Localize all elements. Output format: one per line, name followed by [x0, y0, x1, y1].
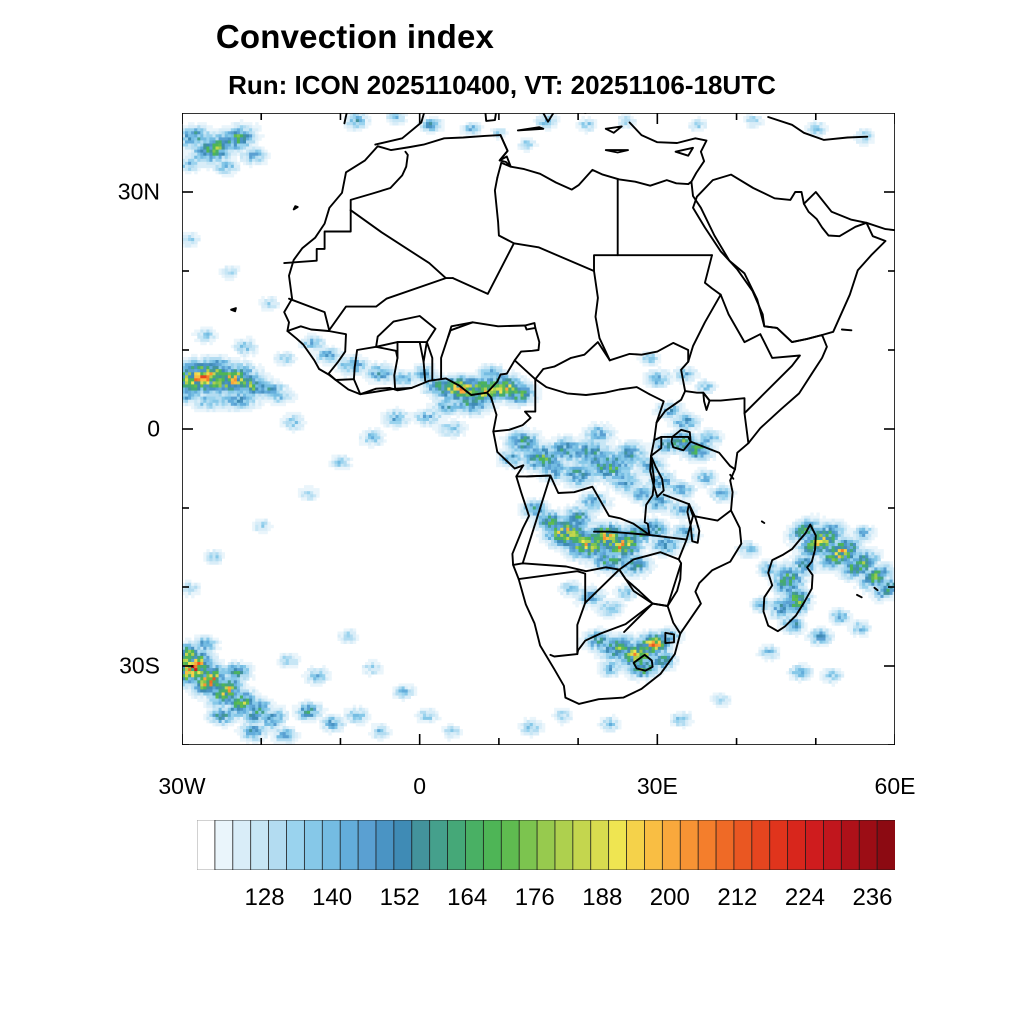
- field-cell: [252, 339, 255, 342]
- field-cell: [661, 513, 671, 516]
- field-cell: [621, 473, 624, 476]
- field-cell: [646, 540, 649, 543]
- field-cell: [200, 150, 203, 153]
- field-cell: [545, 537, 548, 540]
- field-cell: [206, 333, 209, 336]
- field-cell: [289, 351, 292, 354]
- field-cell: [661, 543, 664, 546]
- field-cell: [380, 366, 390, 369]
- field-cell: [804, 522, 814, 525]
- field-cell: [280, 397, 283, 400]
- field-cell: [350, 366, 353, 369]
- field-cell: [554, 519, 557, 522]
- field-cell: [804, 583, 807, 586]
- field-cell: [518, 455, 521, 458]
- field-cell: [612, 458, 615, 461]
- field-cell: [579, 122, 582, 125]
- field-cell: [240, 122, 253, 125]
- field-cell: [676, 482, 679, 485]
- field-cell: [640, 455, 643, 458]
- field-cell: [707, 381, 710, 384]
- field-cell: [667, 479, 670, 482]
- field-cell: [249, 144, 252, 147]
- field-cell: [868, 567, 871, 570]
- field-cell: [667, 372, 670, 375]
- field-cell: [649, 375, 652, 378]
- field-cell: [206, 162, 216, 165]
- field-cell: [209, 366, 212, 369]
- field-cell: [582, 528, 585, 531]
- field-cell: [182, 589, 188, 592]
- field-cell: [252, 131, 255, 134]
- field-cell: [844, 543, 847, 546]
- field-cell: [280, 394, 283, 397]
- field-cell: [219, 552, 222, 555]
- field-cell: [365, 366, 371, 369]
- field-cell: [667, 540, 670, 543]
- field-cell: [380, 442, 383, 445]
- field-cell: [658, 540, 661, 543]
- field-cell: [874, 571, 880, 574]
- field-cell: [240, 159, 246, 162]
- field-cell: [697, 418, 700, 421]
- field-cell: [362, 436, 365, 439]
- field-cell: [481, 388, 484, 391]
- field-cell: [213, 378, 216, 381]
- field-cell: [188, 589, 194, 592]
- field-cell: [685, 458, 688, 461]
- field-cell: [606, 552, 622, 555]
- field-cell: [524, 430, 530, 433]
- field-cell: [551, 516, 554, 519]
- field-cell: [222, 131, 225, 134]
- field-cell: [435, 119, 438, 122]
- field-cell: [655, 442, 661, 445]
- field-cell: [405, 421, 408, 424]
- field-cell: [365, 125, 368, 128]
- field-cell: [481, 363, 484, 366]
- field-cell: [438, 424, 441, 427]
- field-cell: [838, 577, 841, 580]
- field-cell: [640, 503, 643, 506]
- field-cell: [603, 534, 606, 537]
- field-cell: [450, 388, 453, 391]
- field-cell: [667, 528, 670, 531]
- field-cell: [527, 397, 530, 400]
- field-cell: [258, 528, 268, 531]
- field-cell: [627, 455, 630, 458]
- field-cell: [569, 537, 572, 540]
- field-cell: [758, 546, 761, 549]
- field-cell: [579, 534, 582, 537]
- field-cell: [420, 391, 423, 394]
- field-cell: [569, 485, 575, 488]
- field-cell: [585, 122, 588, 125]
- field-cell: [572, 558, 575, 561]
- field-cell: [579, 595, 582, 598]
- field-cell: [792, 571, 798, 574]
- field-cell: [832, 531, 835, 534]
- field-cell: [633, 122, 636, 125]
- field-cell: [518, 372, 521, 375]
- field-cell: [658, 482, 661, 485]
- field-cell: [209, 342, 212, 345]
- field-cell: [206, 406, 209, 409]
- field-cell: [649, 360, 652, 363]
- field-cell: [209, 339, 215, 342]
- field-cell: [835, 574, 841, 577]
- field-cell: [286, 412, 302, 415]
- field-cell: [579, 552, 582, 555]
- field-cell: [328, 348, 334, 351]
- field-cell: [350, 369, 353, 372]
- field-cell: [582, 449, 585, 452]
- field-cell: [478, 131, 481, 134]
- field-cell: [197, 400, 200, 403]
- field-cell: [450, 391, 453, 394]
- field-cell: [554, 516, 557, 519]
- field-cell: [466, 403, 469, 406]
- field-cell: [234, 403, 237, 406]
- field-cell: [874, 574, 877, 577]
- field-cell: [530, 449, 533, 452]
- field-cell: [597, 467, 600, 470]
- field-cell: [801, 522, 804, 525]
- field-cell: [823, 564, 826, 567]
- field-cell: [722, 436, 725, 439]
- field-cell: [566, 470, 572, 473]
- field-cell: [597, 442, 600, 445]
- field-cell: [267, 394, 270, 397]
- field-cell: [191, 150, 194, 153]
- field-cell: [411, 381, 414, 384]
- field-cell: [310, 342, 313, 345]
- field-cell: [664, 540, 667, 543]
- field-cell: [615, 449, 621, 452]
- field-cell: [399, 412, 402, 415]
- field-cell: [600, 558, 603, 561]
- field-cell: [234, 150, 237, 153]
- field-cell: [524, 391, 527, 394]
- field-cell: [572, 537, 575, 540]
- field-cell: [618, 119, 621, 122]
- field-cell: [237, 134, 240, 137]
- field-cell: [408, 421, 411, 424]
- field-cell: [621, 528, 624, 531]
- field-cell: [597, 452, 600, 455]
- field-cell: [274, 378, 280, 381]
- field-cell: [624, 491, 634, 494]
- field-cell: [792, 592, 795, 595]
- field-cell: [853, 564, 856, 567]
- field-cell: [621, 540, 624, 543]
- field-cell: [222, 171, 228, 174]
- field-cell: [463, 415, 466, 418]
- field-cell: [710, 494, 713, 497]
- field-cell: [359, 125, 365, 128]
- field-cell: [331, 464, 334, 467]
- field-cell: [575, 537, 578, 540]
- field-cell: [481, 381, 484, 384]
- field-cell: [575, 122, 578, 125]
- field-cell: [606, 537, 609, 540]
- field-cell: [697, 455, 700, 458]
- field-cell: [277, 388, 280, 391]
- field-cell: [575, 516, 578, 519]
- field-cell: [209, 409, 212, 412]
- field-cell: [261, 394, 264, 397]
- field-cell: [222, 275, 225, 278]
- field-cell: [801, 552, 807, 555]
- field-cell: [429, 119, 432, 122]
- field-cell: [826, 528, 829, 531]
- field-cell: [450, 406, 460, 409]
- field-cell: [264, 299, 267, 302]
- field-cell: [335, 464, 338, 467]
- field-cell: [658, 506, 664, 509]
- field-cell: [807, 537, 810, 540]
- field-cell: [237, 168, 240, 171]
- field-cell: [572, 458, 575, 461]
- field-cell: [231, 375, 234, 378]
- field-cell: [624, 476, 627, 479]
- field-cell: [228, 162, 231, 165]
- field-cell: [420, 412, 423, 415]
- field-cell: [624, 482, 627, 485]
- field-cell: [679, 381, 692, 384]
- field-cell: [597, 534, 600, 537]
- field-cell: [569, 552, 575, 555]
- field-cell: [527, 500, 530, 503]
- field-cell: [444, 406, 447, 409]
- field-cell: [423, 409, 426, 412]
- field-cell: [252, 384, 255, 387]
- field-cell: [865, 549, 868, 552]
- field-cell: [444, 412, 450, 415]
- field-cell: [194, 397, 197, 400]
- field-cell: [380, 430, 383, 433]
- field-cell: [582, 513, 585, 516]
- field-cell: [289, 354, 292, 357]
- field-cell: [417, 375, 420, 378]
- field-cell: [548, 537, 551, 540]
- field-cell: [865, 546, 878, 549]
- field-cell: [841, 537, 847, 540]
- field-cell: [216, 137, 219, 140]
- field-cell: [234, 388, 240, 391]
- field-cell: [527, 449, 530, 452]
- field-cell: [636, 549, 639, 552]
- field-cell: [188, 235, 191, 238]
- field-cell: [630, 458, 633, 461]
- field-cell: [661, 540, 664, 543]
- field-cell: [298, 427, 301, 430]
- field-cell: [209, 330, 212, 333]
- field-cell: [365, 360, 368, 363]
- field-cell: [643, 461, 646, 464]
- field-cell: [697, 116, 700, 119]
- field-cell: [371, 363, 374, 366]
- field-cell: [435, 388, 438, 391]
- field-cell: [874, 555, 877, 558]
- field-cell: [389, 363, 392, 366]
- field-cell: [850, 577, 853, 580]
- field-cell: [679, 458, 682, 461]
- field-cell: [460, 125, 463, 128]
- field-cell: [691, 412, 694, 415]
- field-cell: [588, 455, 591, 458]
- field-cell: [572, 549, 575, 552]
- field-cell: [670, 473, 673, 476]
- field-cell: [609, 525, 612, 528]
- field-cell: [664, 506, 667, 509]
- field-cell: [844, 564, 847, 567]
- field-cell: [460, 378, 463, 381]
- field-cell: [850, 567, 853, 570]
- field-cell: [255, 519, 265, 522]
- field-cell: [505, 384, 508, 387]
- field-cell: [823, 552, 826, 555]
- field-cell: [615, 522, 618, 525]
- field-cell: [691, 418, 694, 421]
- field-cell: [457, 421, 460, 424]
- field-cell: [472, 388, 475, 391]
- field-cell: [713, 497, 716, 500]
- field-cell: [594, 561, 597, 564]
- field-cell: [508, 394, 511, 397]
- field-cell: [670, 531, 673, 534]
- field-cell: [673, 369, 679, 372]
- field-cell: [472, 412, 478, 415]
- field-cell: [280, 424, 286, 427]
- field-cell: [615, 491, 621, 494]
- field-cell: [203, 150, 206, 153]
- field-cell: [527, 433, 530, 436]
- field-cell: [868, 549, 871, 552]
- field-cell: [219, 171, 222, 174]
- field-cell: [627, 567, 630, 570]
- field-cell: [188, 162, 191, 165]
- field-cell: [545, 522, 548, 525]
- field-cell: [801, 592, 804, 595]
- field-cell: [694, 452, 697, 455]
- field-cell: [719, 433, 725, 436]
- field-cell: [569, 455, 572, 458]
- field-cell: [569, 592, 572, 595]
- field-cell: [563, 528, 566, 531]
- field-cell: [856, 534, 859, 537]
- field-cell: [594, 461, 597, 464]
- field-cell: [664, 497, 667, 500]
- field-cell: [435, 372, 438, 375]
- field-cell: [359, 116, 362, 119]
- field-cell: [594, 540, 597, 543]
- field-cell: [460, 128, 463, 131]
- field-cell: [725, 491, 728, 494]
- field-cell: [514, 397, 517, 400]
- field-cell: [249, 397, 252, 400]
- field-cell: [191, 391, 194, 394]
- field-cell: [301, 494, 304, 497]
- field-cell: [249, 150, 255, 153]
- field-cell: [545, 516, 548, 519]
- field-cell: [643, 372, 646, 375]
- field-cell: [716, 494, 719, 497]
- field-cell: [490, 128, 493, 131]
- field-cell: [783, 574, 786, 577]
- field-cell: [386, 424, 389, 427]
- field-cell: [392, 384, 402, 387]
- field-cell: [527, 147, 530, 150]
- field-cell: [496, 131, 499, 134]
- field-cell: [572, 473, 575, 476]
- field-cell: [542, 470, 545, 473]
- field-cell: [222, 134, 225, 137]
- field-cell: [673, 485, 676, 488]
- field-cell: [643, 491, 646, 494]
- field-cell: [426, 394, 432, 397]
- field-cell: [829, 528, 832, 531]
- field-cell: [643, 564, 646, 567]
- field-cell: [612, 473, 615, 476]
- field-cell: [615, 534, 618, 537]
- field-cell: [222, 162, 225, 165]
- field-cell: [682, 421, 685, 424]
- field-cell: [679, 528, 682, 531]
- field-cell: [566, 552, 569, 555]
- field-cell: [691, 485, 694, 488]
- field-cell: [771, 574, 774, 577]
- field-cell: [847, 531, 853, 534]
- field-cell: [624, 485, 627, 488]
- field-cell: [463, 400, 469, 403]
- field-cell: [206, 147, 209, 150]
- field-cell: [344, 372, 363, 375]
- field-cell: [871, 137, 874, 140]
- field-cell: [868, 131, 871, 134]
- field-cell: [194, 409, 207, 412]
- field-cell: [551, 540, 554, 543]
- field-cell: [243, 406, 246, 409]
- field-cell: [697, 473, 700, 476]
- field-cell: [206, 372, 209, 375]
- field-cell: [225, 153, 228, 156]
- field-cell: [274, 400, 277, 403]
- field-cell: [588, 458, 591, 461]
- field-cell: [694, 122, 697, 125]
- field-cell: [505, 381, 508, 384]
- field-cell: [844, 549, 847, 552]
- field-cell: [743, 540, 753, 543]
- field-cell: [246, 134, 249, 137]
- field-cell: [246, 381, 249, 384]
- field-cell: [579, 119, 585, 122]
- field-cell: [240, 156, 243, 159]
- field-cell: [783, 531, 789, 534]
- field-cell: [508, 384, 511, 387]
- field-cell: [585, 479, 595, 482]
- field-cell: [652, 378, 655, 381]
- field-cell: [536, 436, 539, 439]
- field-cell: [533, 503, 536, 506]
- field-cell: [603, 558, 606, 561]
- field-cell: [219, 272, 222, 275]
- field-cell: [551, 452, 554, 455]
- field-cell: [219, 168, 225, 171]
- field-cell: [624, 537, 627, 540]
- field-cell: [868, 564, 871, 567]
- field-cell: [826, 525, 829, 528]
